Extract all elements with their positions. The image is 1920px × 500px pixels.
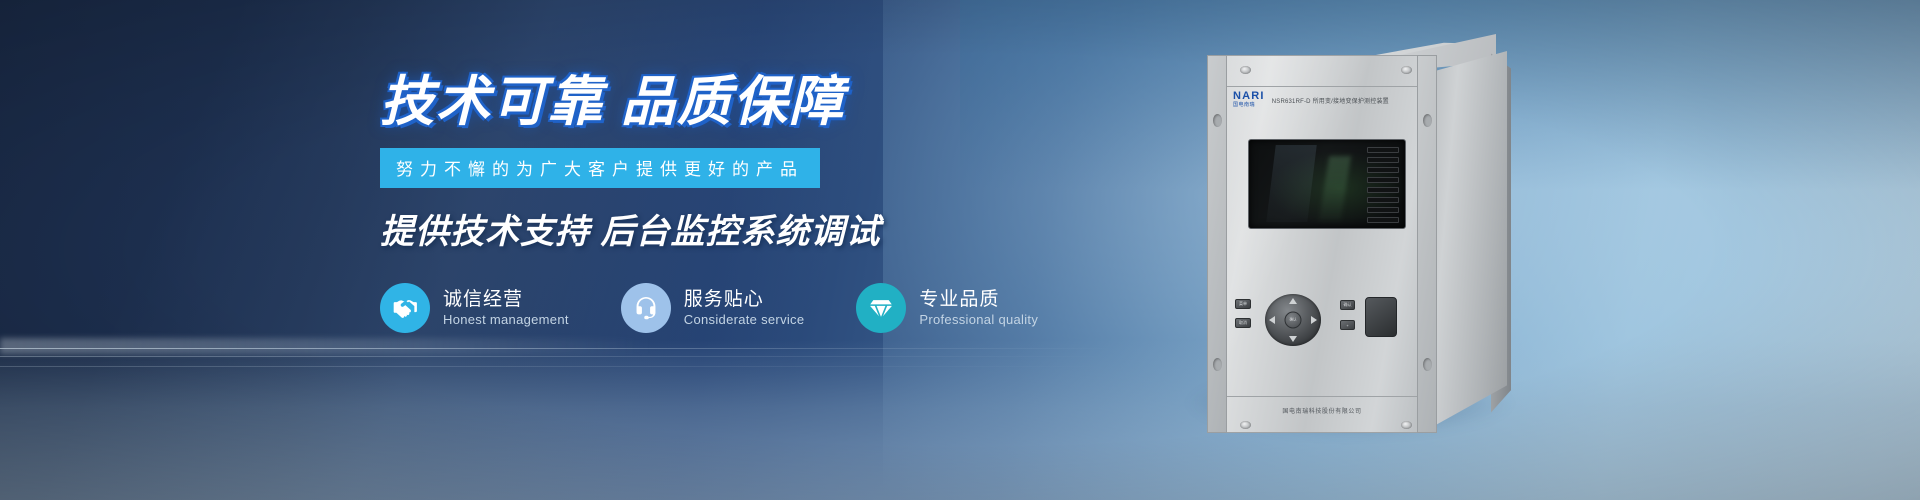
feature-title-cn: 专业品质 [919, 288, 1038, 312]
screen-side-key[interactable] [1367, 207, 1399, 213]
feature-title-en: Professional quality [919, 312, 1038, 329]
arrow-up-icon[interactable] [1289, 298, 1297, 304]
feature-text: 诚信经营 Honest management [443, 288, 569, 329]
nari-logo: NARI 国电南瑞 [1233, 91, 1265, 110]
feature-item-honest-management[interactable]: 诚信经营 Honest management [380, 283, 569, 333]
screen-side-key[interactable] [1367, 147, 1399, 153]
feature-item-professional-quality[interactable]: 专业品质 Professional quality [856, 283, 1038, 333]
confirm-side-button[interactable]: 确认 [1340, 300, 1355, 310]
brand-name-cn: 国电南瑞 [1233, 102, 1265, 110]
escape-button[interactable]: 取消 [1235, 318, 1251, 328]
dpad-control[interactable]: 确认 [1265, 294, 1321, 346]
screen-side-key[interactable] [1367, 187, 1399, 193]
arrow-left-icon[interactable] [1269, 316, 1275, 324]
arrow-right-icon[interactable] [1311, 316, 1317, 324]
device-mount-ear-right [1417, 55, 1437, 433]
banner-tagline: 提供技术支持 后台监控系统调试 [380, 204, 900, 253]
banner-subtitle-bar: 努力不懈的为广大客户提供更好的产品 [380, 148, 820, 188]
screen-side-key[interactable] [1367, 157, 1399, 163]
mount-hole [1213, 358, 1222, 371]
panel-screw [1240, 66, 1251, 74]
arrow-down-icon[interactable] [1289, 336, 1297, 342]
banner-copy: 技术可靠 品质保障 努力不懈的为广大客户提供更好的产品 提供技术支持 后台监控系… [380, 72, 900, 333]
feature-text: 服务贴心 Considerate service [684, 288, 805, 329]
device-keypad: 菜单 取消 确认 确认 + [1235, 296, 1415, 344]
banner-subtitle-text: 努力不懈的为广大客户提供更好的产品 [396, 160, 804, 179]
screen-side-key[interactable] [1367, 197, 1399, 203]
panel-screw [1401, 421, 1412, 429]
device-mount-ear-left [1207, 55, 1227, 433]
device-front-panel [1207, 55, 1437, 433]
device-lcd-screen [1248, 139, 1406, 229]
screen-side-key[interactable] [1367, 167, 1399, 173]
feature-text: 专业品质 Professional quality [919, 288, 1038, 329]
panel-screw [1401, 66, 1412, 74]
handshake-icon [380, 283, 430, 333]
headset-icon [621, 283, 671, 333]
mount-hole [1423, 358, 1432, 371]
screen-glare [1266, 145, 1316, 222]
device-divider-bottom [1227, 396, 1417, 397]
menu-button[interactable]: 菜单 [1235, 299, 1251, 309]
feature-title-cn: 服务贴心 [684, 288, 805, 312]
panel-screw [1240, 421, 1251, 429]
background-vignette [0, 0, 1920, 500]
plus-button[interactable]: + [1340, 320, 1355, 330]
feature-item-considerate-service[interactable]: 服务贴心 Considerate service [621, 283, 805, 333]
device-divider-top [1227, 86, 1417, 87]
device-brand-label: NARI 国电南瑞 NSR631RF-D 所用变/接地变保护测控装置 [1233, 91, 1389, 110]
feature-title-cn: 诚信经营 [443, 288, 569, 312]
screen-glare-2 [1319, 156, 1351, 221]
device-side-panel [1425, 51, 1507, 431]
banner-headline: 技术可靠 品质保障 [380, 72, 900, 132]
screen-side-key[interactable] [1367, 217, 1399, 223]
screen-side-key[interactable] [1367, 177, 1399, 183]
screen-side-key-strip [1367, 147, 1399, 223]
diamond-icon [856, 283, 906, 333]
device-model-label: NSR631RF-D 所用变/接地变保护测控装置 [1272, 96, 1389, 105]
device-footer-text: 国电南瑞科技股份有限公司 [1227, 406, 1417, 415]
mount-hole [1213, 114, 1222, 127]
feature-title-en: Honest management [443, 312, 569, 329]
promo-banner: 技术可靠 品质保障 努力不懈的为广大客户提供更好的产品 提供技术支持 后台监控系… [0, 0, 1920, 500]
mount-hole [1423, 114, 1432, 127]
product-device-image: NARI 国电南瑞 NSR631RF-D 所用变/接地变保护测控装置 菜单 取消 [1155, 18, 1615, 478]
brand-name: NARI [1233, 91, 1265, 102]
feature-list: 诚信经营 Honest management 服务贴心 Considerate … [380, 283, 900, 333]
confirm-button[interactable]: 确认 [1285, 312, 1302, 329]
feature-title-en: Considerate service [684, 312, 805, 329]
device-port-cover[interactable] [1365, 297, 1397, 337]
